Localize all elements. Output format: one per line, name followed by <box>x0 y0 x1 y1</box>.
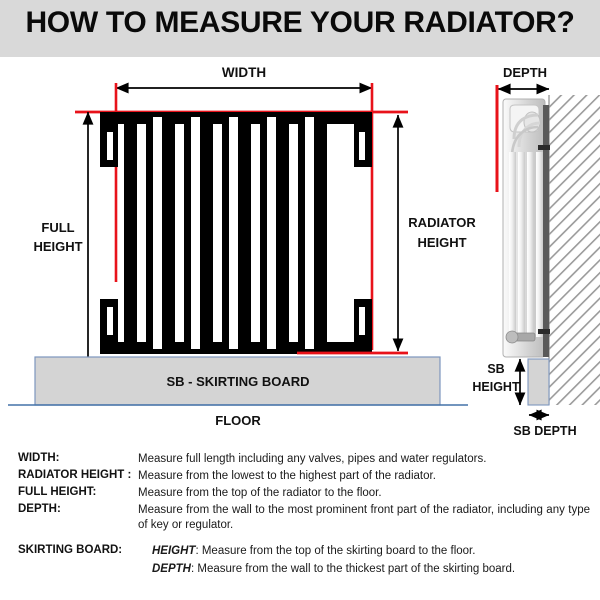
radiator-section <box>276 112 305 354</box>
radiator-notch <box>229 117 238 124</box>
radiator-column <box>162 112 175 354</box>
radiator-column <box>238 112 251 354</box>
sb-depth-text: : Measure from the wall to the thickest … <box>191 563 515 575</box>
skirting-board-group: SB - SKIRTING BOARD <box>35 357 440 405</box>
radiator-section <box>100 112 153 354</box>
legend-desc: Measure from the top of the radiator to … <box>138 486 590 501</box>
side-skirting-board <box>528 359 549 405</box>
radiator-column <box>276 112 289 354</box>
full-height-label-line1: FULL <box>41 220 74 235</box>
side-radiator-tube <box>518 152 525 337</box>
radiator-measurement-diagram: WIDTH <box>0 57 600 445</box>
sb-height-label-line2: HEIGHT <box>472 380 520 394</box>
side-radiator-tube <box>527 152 534 337</box>
radiator-fin <box>184 112 191 354</box>
floor-label: FLOOR <box>215 413 261 428</box>
radiator-notch <box>267 342 276 349</box>
page-title: HOW TO MEASURE YOUR RADIATOR? <box>0 6 600 40</box>
radiator-height-label-line1: RADIATOR <box>408 215 476 230</box>
radiator-slot <box>359 307 365 335</box>
radiator-section <box>314 112 327 354</box>
width-dimension: WIDTH <box>116 65 372 88</box>
radiator-height-dimension: RADIATOR HEIGHT <box>398 115 476 351</box>
radiator-notch <box>305 117 314 124</box>
side-radiator-tube <box>509 152 516 337</box>
legend-desc-sb-height: HEIGHT: Measure from the top of the skir… <box>152 544 590 559</box>
legend-desc: Measure full length including any valves… <box>138 452 590 467</box>
radiator-notch <box>229 342 238 349</box>
legend-desc: Measure from the wall to the most promin… <box>138 503 590 533</box>
sb-depth-emphasis: DEPTH <box>152 563 191 575</box>
wall-bracket-icon <box>538 329 550 334</box>
radiator-section <box>238 112 267 354</box>
sb-height-emphasis: HEIGHT <box>152 545 195 557</box>
radiator-slot <box>107 307 113 335</box>
width-label: WIDTH <box>222 65 266 80</box>
wall-bracket-icon <box>538 145 550 150</box>
radiator-end-cap-right <box>354 112 372 354</box>
radiator-notch <box>153 117 162 124</box>
radiator-fin <box>146 112 153 354</box>
legend-term: DEPTH: <box>18 503 61 515</box>
full-height-label-line2: HEIGHT <box>33 239 82 254</box>
radiator-slot <box>359 132 365 160</box>
skirting-board-label: SB - SKIRTING BOARD <box>167 374 310 389</box>
radiator-column <box>314 112 327 354</box>
legend-desc: Measure from the lowest to the highest p… <box>138 469 590 484</box>
radiator-section <box>200 112 229 354</box>
radiator-notch <box>305 342 314 349</box>
radiator-fin <box>298 112 305 354</box>
legend-block: WIDTH: Measure full length including any… <box>0 452 600 600</box>
legend-desc-sb-depth: DEPTH: Measure from the wall to the thic… <box>152 562 590 577</box>
radiator-fin <box>222 112 229 354</box>
radiator-height-label-line2: HEIGHT <box>417 235 466 250</box>
radiator-fin <box>260 112 267 354</box>
sb-depth-label: SB DEPTH <box>513 424 576 438</box>
wall-hatch <box>549 95 600 405</box>
sb-height-label-line1: SB <box>487 362 504 376</box>
radiator-slot <box>107 132 113 160</box>
legend-term: FULL HEIGHT: <box>18 486 96 498</box>
radiator-notch <box>191 342 200 349</box>
radiator-column <box>200 112 213 354</box>
diagram-page: HOW TO MEASURE YOUR RADIATOR? <box>0 0 600 600</box>
side-radiator-tube <box>536 152 543 337</box>
radiator-notch <box>191 117 200 124</box>
radiator-front-view <box>100 112 372 354</box>
legend-term-skirting: SKIRTING BOARD: <box>18 544 122 556</box>
radiator-section <box>162 112 191 354</box>
radiator-valve-icon <box>506 331 535 343</box>
side-view-group: DEPTH <box>472 65 600 438</box>
legend-term: WIDTH: <box>18 452 60 464</box>
radiator-column <box>124 112 137 354</box>
radiator-notch <box>153 342 162 349</box>
side-radiator-back-panel <box>543 105 549 357</box>
sb-height-text: : Measure from the top of the skirting b… <box>195 545 475 557</box>
legend-term: RADIATOR HEIGHT : <box>18 469 131 481</box>
depth-label: DEPTH <box>503 65 547 80</box>
radiator-notch <box>267 117 276 124</box>
